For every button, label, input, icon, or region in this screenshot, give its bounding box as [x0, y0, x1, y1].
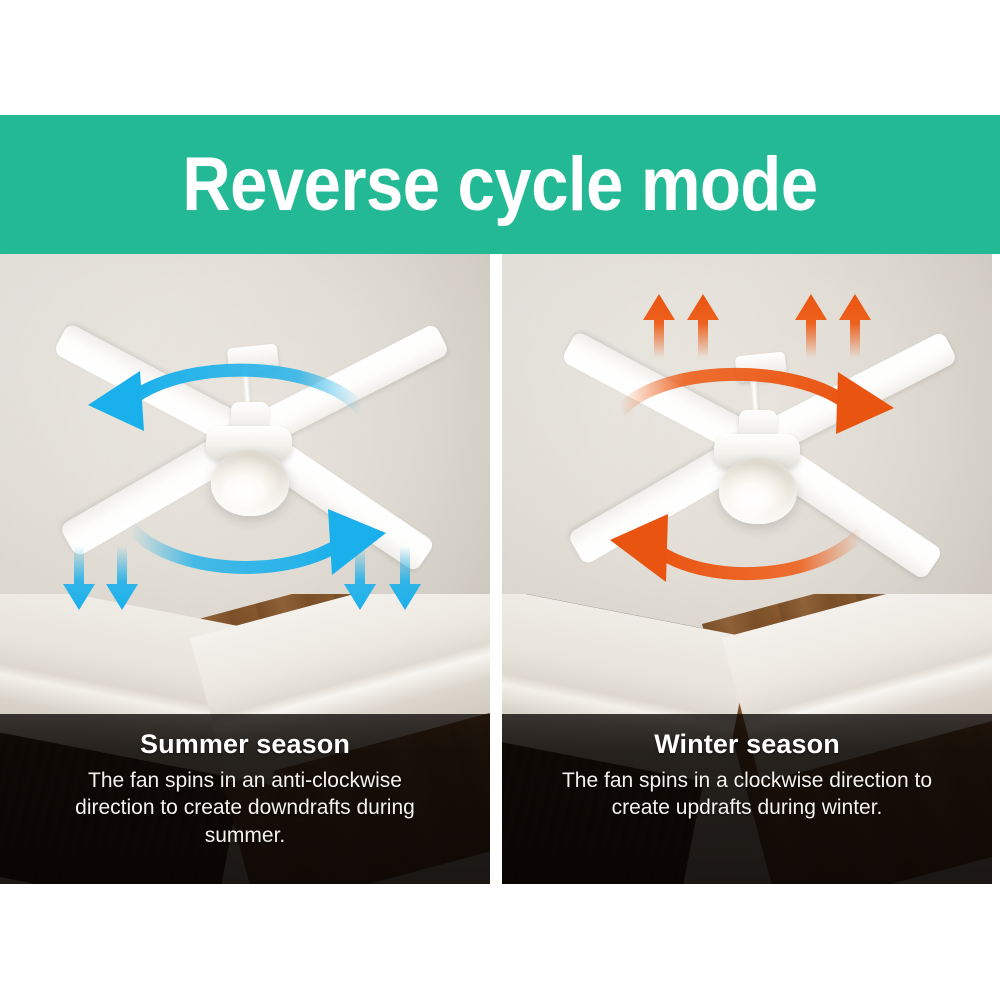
rotation-arrow-bottom — [562, 484, 892, 604]
airflow-arrow-up — [794, 292, 828, 360]
comparison-panels: Summer season The fan spins in an anti-c… — [0, 254, 1000, 884]
airflow-arrow-down — [62, 546, 96, 612]
caption-summer: Summer season The fan spins in an anti-c… — [0, 714, 490, 884]
rotation-arrow-top — [612, 354, 952, 474]
product-infographic: Reverse cycle mode — [0, 0, 1000, 1000]
caption-winter: Winter season The fan spins in a clockwi… — [502, 714, 992, 884]
page-title: Reverse cycle mode — [182, 147, 817, 223]
airflow-arrow-up — [686, 292, 720, 360]
rotation-arrow-top — [40, 349, 380, 469]
caption-body: The fan spins in an anti-clockwise direc… — [50, 767, 440, 849]
caption-body: The fan spins in a clockwise direction t… — [552, 767, 942, 822]
panel-summer: Summer season The fan spins in an anti-c… — [0, 254, 490, 884]
airflow-arrow-down — [343, 546, 377, 612]
airflow-arrow-up — [838, 292, 872, 360]
airflow-arrow-up — [642, 292, 676, 360]
title-banner: Reverse cycle mode — [0, 115, 1000, 254]
panel-winter: Winter season The fan spins in a clockwi… — [502, 254, 992, 884]
airflow-arrow-down — [388, 546, 422, 612]
caption-title: Winter season — [654, 731, 840, 758]
airflow-arrow-down — [105, 546, 139, 612]
caption-title: Summer season — [140, 731, 350, 758]
